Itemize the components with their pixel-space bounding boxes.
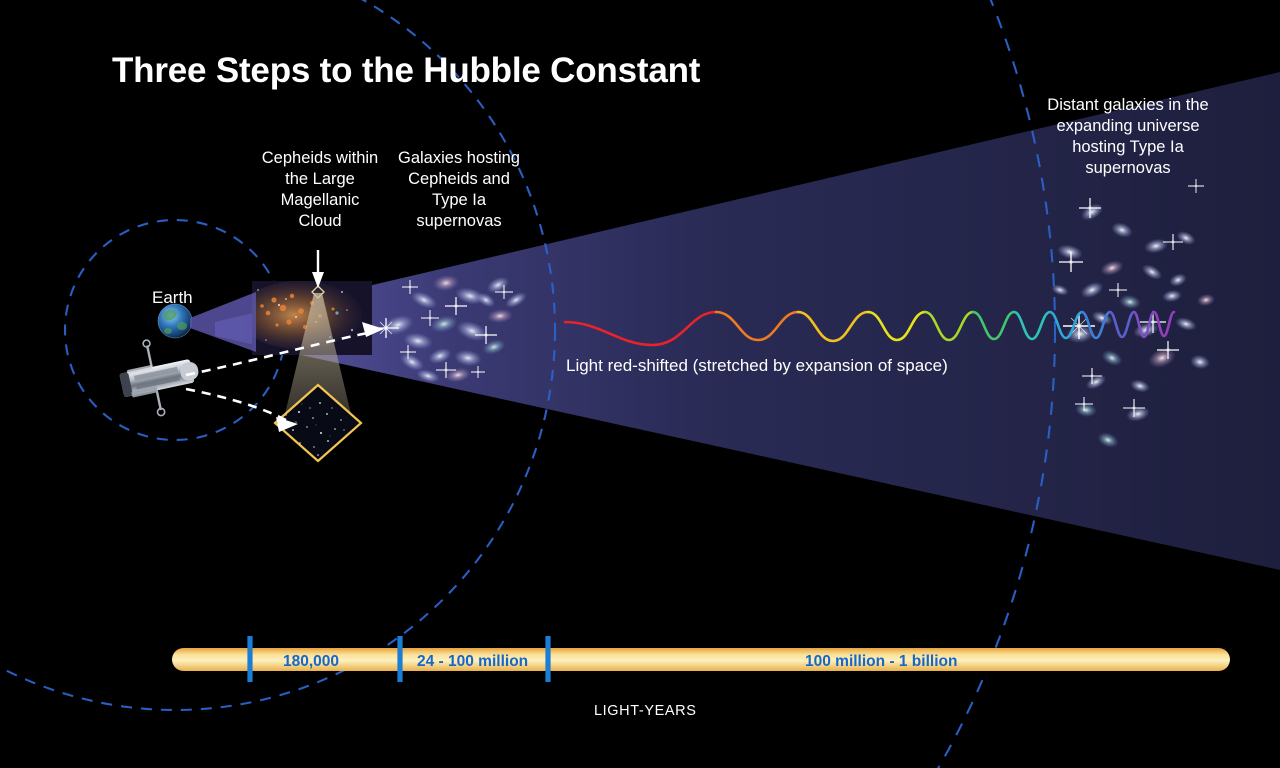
earth-label: Earth xyxy=(152,288,193,308)
infographic-canvas: Three Steps to the Hubble Constant Earth… xyxy=(0,0,1280,768)
scale-segment-label-2: 24 - 100 million xyxy=(417,653,528,671)
callout-step3-distant-galaxies: Distant galaxies in the expanding univer… xyxy=(1032,95,1224,179)
hubble-telescope-icon xyxy=(114,331,206,423)
callout-step2-galaxies: Galaxies hosting Cepheids and Type Ia su… xyxy=(398,148,520,232)
scale-segment-label-1: 180,000 xyxy=(283,653,339,671)
scale-segment-label-3: 100 million - 1 billion xyxy=(805,653,957,671)
earth-icon xyxy=(158,304,192,338)
redshift-caption: Light red-shifted (stretched by expansio… xyxy=(566,356,948,376)
page-title: Three Steps to the Hubble Constant xyxy=(112,52,700,91)
observation-beam xyxy=(190,292,256,352)
callout-step1-cepheids: Cepheids within the Large Magellanic Clo… xyxy=(258,148,382,232)
scale-axis-label: LIGHT-YEARS xyxy=(594,703,697,719)
